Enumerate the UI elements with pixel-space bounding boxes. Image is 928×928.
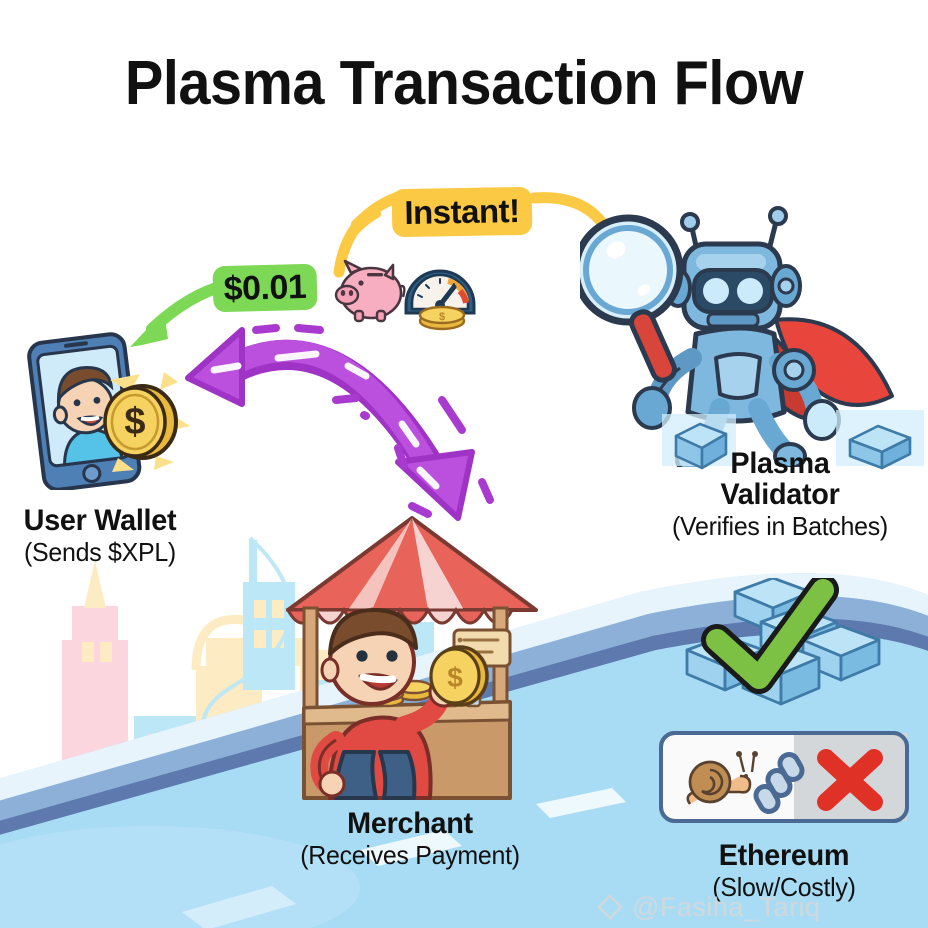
speedometer-icon: $: [398, 243, 488, 333]
merchant-label: Merchant (Receives Payment): [250, 808, 570, 870]
smartphone-wallet-icon: $: [14, 330, 194, 490]
user-wallet-label: User Wallet (Sends $XPL): [0, 505, 200, 567]
svg-text:$: $: [447, 662, 463, 693]
user-wallet-title: User Wallet: [4, 505, 196, 536]
merchant-subtitle: (Receives Payment): [256, 841, 563, 870]
purple-bidirectional-arrow: [170, 320, 530, 540]
ethereum-label: Ethereum (Slow/Costly): [640, 840, 928, 902]
svg-text:$: $: [124, 401, 145, 443]
cost-badge: $0.01: [212, 264, 317, 313]
validator-title-line2: Validator: [638, 479, 922, 510]
verified-blocks-icon: [665, 578, 915, 723]
validator-subtitle: (Verifies in Batches): [638, 512, 922, 541]
speed-badge: Instant!: [392, 187, 533, 237]
ethereum-slow-costly-box: [658, 730, 910, 825]
merchant-stall-icon: $: [268, 512, 558, 812]
infographic-canvas: Plasma Transaction Flow: [0, 0, 928, 928]
ethereum-title: Ethereum: [646, 840, 922, 871]
gold-coin-stack-icon: $: [420, 307, 464, 329]
magnifier-icon: [580, 218, 680, 383]
merchant-title: Merchant: [256, 808, 563, 839]
svg-text:$: $: [439, 311, 445, 323]
page-title: Plasma Transaction Flow: [32, 48, 895, 119]
plasma-validator-label: Plasma Validator (Verifies in Batches): [632, 448, 928, 541]
ethereum-subtitle: (Slow/Costly): [646, 873, 922, 902]
user-wallet-subtitle: (Sends $XPL): [4, 538, 196, 567]
validator-title-line1: Plasma: [638, 448, 922, 479]
